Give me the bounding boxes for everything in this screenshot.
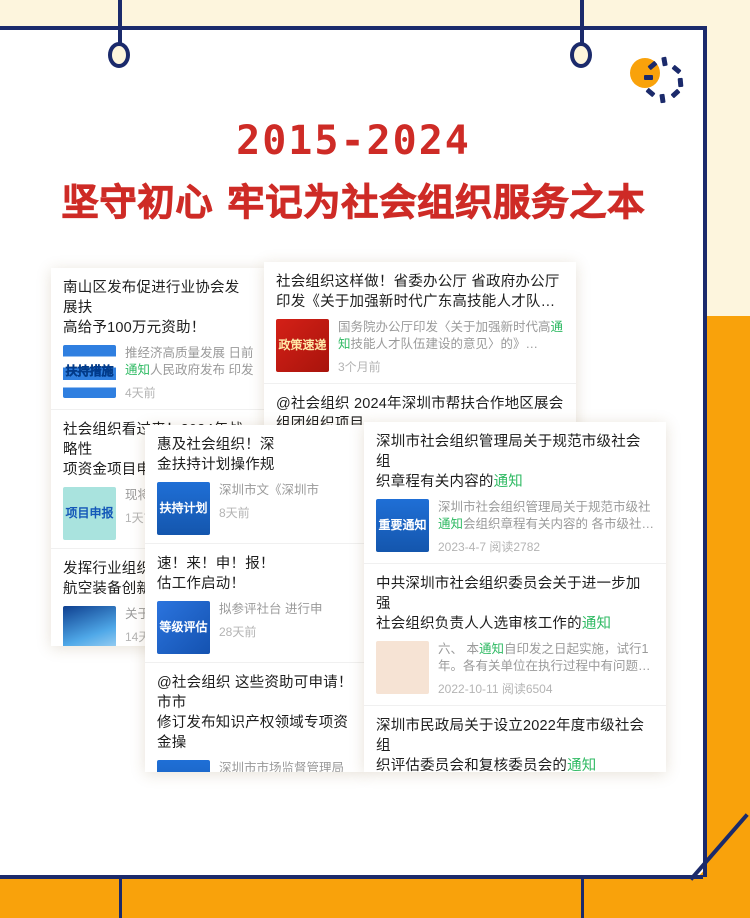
hanger-stem-right [580, 0, 584, 44]
news-thumbnail-label: 等级评估 [159, 621, 207, 634]
news-item-meta: 3个月前 [338, 358, 564, 375]
news-item-meta: 8天前 [219, 504, 353, 521]
news-item[interactable]: 深圳市民政局关于设立2022年度市级社会组织评估委员会和复核委员会的通知通知公告… [364, 706, 666, 772]
news-item-meta: 2023-4-7 阅读2782 [438, 538, 654, 555]
sunburst-icon [630, 55, 688, 103]
hanger-ring-left [108, 42, 130, 68]
news-item-snippet: 推经济高质量发展 日前通知人民政府发布 印发 [125, 345, 254, 379]
orange-bottom-band [0, 877, 750, 918]
bottom-tick-left [119, 877, 122, 918]
news-item-title: 中共深圳市社会组织委员会关于进一步加强社会组织负责人人选审核工作的通知 [376, 574, 654, 634]
news-thumbnail: 项目申报 [63, 487, 116, 540]
news-item[interactable]: 惠及社会组织！深金扶持计划操作规扶持计划深圳市文《深圳市8天前 [145, 425, 365, 544]
news-item[interactable]: 速！来！申！报！估工作启动！等级评估拟参评社台 进行申28天前 [145, 544, 365, 663]
frame-line-top [0, 26, 707, 30]
news-thumbnail-label: 扶持计划 [159, 502, 207, 515]
news-item-title: 南山区发布促进行业协会发展扶高给予100万元资助！ [63, 278, 254, 338]
news-thumbnail: 政策速递 [276, 319, 329, 372]
news-item-title: 速！来！申！报！估工作启动！ [157, 554, 353, 594]
page-title-year: 2015-2024 [0, 118, 707, 164]
orange-right-band [706, 316, 750, 878]
news-item[interactable]: 深圳市社会组织管理局关于规范市级社会组织章程有关内容的通知重要通知深圳市社会组织… [364, 422, 666, 564]
news-card-3[interactable]: 惠及社会组织！深金扶持计划操作规扶持计划深圳市文《深圳市8天前速！来！申！报！估… [145, 425, 365, 772]
news-item-snippet: 深圳市市场监督管理局关于市市场监督管理局知识产权 [219, 760, 353, 772]
news-item-snippet: 深圳市社会组织管理局关于规范市级社通知会组织章程有关内容的 各市级社… [438, 499, 654, 533]
news-item-snippet: 深圳市文《深圳市 [219, 482, 353, 499]
news-item-meta: 4天前 [125, 384, 254, 401]
news-thumbnail [63, 606, 116, 646]
hanger-ring-right [570, 42, 592, 68]
poster-canvas: 2015-2024 坚守初心 牢记为社会组织服务之本 南山区发布促进行业协会发展… [0, 0, 750, 918]
hanger-stem-left [118, 0, 122, 44]
news-item-meta: 28天前 [219, 623, 353, 640]
news-item-meta: 2022-10-11 阅读6504 [438, 680, 654, 697]
news-item-snippet: 六、 本通知自印发之日起实施，试行1年。各有关单位在执行过程中有问题… [438, 641, 654, 675]
frame-line-bottom [0, 875, 703, 879]
news-thumbnail: 等级评估 [157, 601, 210, 654]
news-item-title: 深圳市民政局关于设立2022年度市级社会组织评估委员会和复核委员会的通知 [376, 716, 654, 772]
news-card-4[interactable]: 深圳市社会组织管理局关于规范市级社会组织章程有关内容的通知重要通知深圳市社会组织… [364, 422, 666, 772]
news-thumbnail [376, 641, 429, 694]
news-item[interactable]: @社会组织 这些资助可申请！市市修订发布知识产权领域专项资金操政策速递深圳市市场… [145, 663, 365, 772]
news-item[interactable]: 南山区发布促进行业协会发展扶高给予100万元资助！扶持措施推经济高质量发展 日前… [51, 268, 266, 410]
news-thumbnail: 扶持措施 [63, 345, 116, 398]
news-thumbnail-label: 重要通知 [378, 519, 426, 532]
page-title-headline: 坚守初心 牢记为社会组织服务之本 [0, 172, 707, 226]
news-thumbnail-label: 项目申报 [65, 507, 113, 520]
news-item-snippet: 拟参评社台 进行申 [219, 601, 353, 618]
news-item[interactable]: 社会组织这样做！省委办公厅 省政府办公厅印发《关于加强新时代广东高技能人才队…政… [264, 262, 576, 384]
news-thumbnail: 政策速递 [157, 760, 210, 772]
news-item-snippet: 国务院办公厅印发〈关于加强新时代高通知技能人才队伍建设的意见〉的》… [338, 319, 564, 353]
cream-top-band [0, 0, 750, 28]
news-thumbnail-label: 扶持措施 [65, 365, 113, 378]
news-item-title: 深圳市社会组织管理局关于规范市级社会组织章程有关内容的通知 [376, 432, 654, 492]
news-item[interactable]: 中共深圳市社会组织委员会关于进一步加强社会组织负责人人选审核工作的通知六、 本通… [364, 564, 666, 706]
news-thumbnail-label: 政策速递 [278, 339, 326, 352]
cream-right-band [706, 0, 750, 316]
bottom-tick-right [581, 877, 584, 918]
news-thumbnail: 扶持计划 [157, 482, 210, 535]
news-thumbnail: 重要通知 [376, 499, 429, 552]
news-item-title: 社会组织这样做！省委办公厅 省政府办公厅印发《关于加强新时代广东高技能人才队… [276, 272, 564, 312]
news-item-title: 惠及社会组织！深金扶持计划操作规 [157, 435, 353, 475]
news-item-title: @社会组织 这些资助可申请！市市修订发布知识产权领域专项资金操 [157, 673, 353, 753]
frame-line-diagonal [688, 814, 750, 880]
